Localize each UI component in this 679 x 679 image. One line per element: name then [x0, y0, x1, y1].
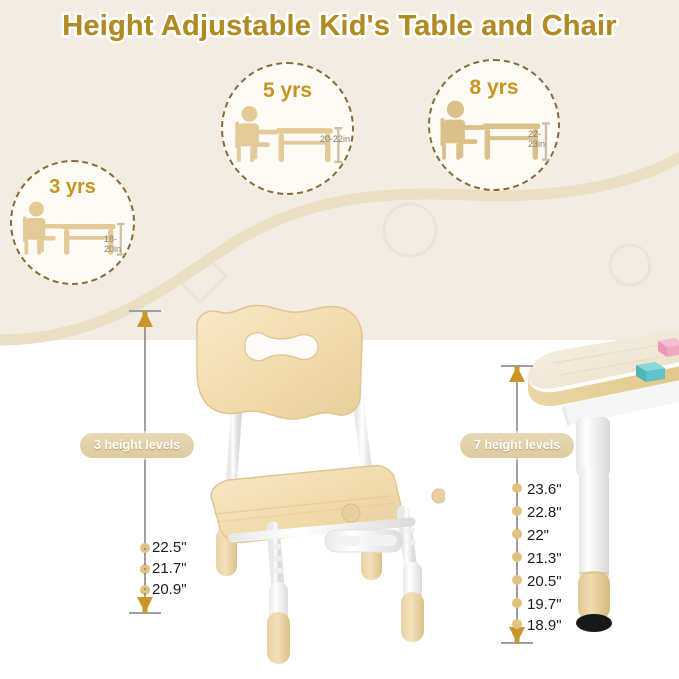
page-title-fill: Height Adjustable Kid's Table and Chair	[0, 10, 679, 43]
chair-height-value-1: 21.7"	[152, 560, 187, 577]
age-circle-8yrs-label: 8 yrs	[469, 77, 518, 98]
age-circle-5yrs-measure: 20-22in	[320, 134, 350, 144]
table-leg-lower	[578, 571, 610, 621]
table-height-value-1: 22.8"	[527, 504, 562, 521]
table-height-value-3: 21.3"	[527, 550, 562, 567]
table-height-value-2: 22"	[527, 527, 549, 544]
chair-leg-cap	[267, 612, 290, 664]
chair-leg-cap	[401, 592, 424, 642]
age-circle-3yrs: 3 yrs	[10, 160, 135, 285]
chair-height-levels-badge: 3 height levels	[80, 433, 194, 458]
table-height-value-4: 20.5"	[527, 573, 562, 590]
table-foot	[576, 614, 612, 632]
chair-product-image	[175, 300, 445, 675]
table-height-value-0: 23.6"	[527, 481, 562, 498]
age-circle-5yrs: 5 yrs 20-22in	[221, 62, 354, 195]
table-height-value-5: 19.7"	[527, 596, 562, 613]
table-leg-upper	[579, 465, 609, 587]
chair-backrest	[197, 305, 362, 419]
age-circle-3yrs-label: 3 yrs	[49, 177, 96, 197]
age-circle-8yrs: 8 yrs 22-23in	[428, 59, 560, 191]
infographic-canvas: Height Adjustable Kid's Table and Chair …	[0, 0, 679, 679]
age-circle-5yrs-label: 5 yrs	[263, 80, 312, 101]
table-height-value-6: 18.9"	[527, 617, 562, 634]
chair-height-value-0: 22.5"	[152, 539, 187, 556]
age-circle-3yrs-measure: 18-20in	[104, 234, 133, 254]
age-circle-8yrs-measure: 22-23in	[528, 129, 558, 149]
table-height-levels-badge: 7 height levels	[460, 433, 574, 458]
chair-height-value-2: 20.9"	[152, 581, 187, 598]
chair-illustration	[175, 300, 445, 675]
